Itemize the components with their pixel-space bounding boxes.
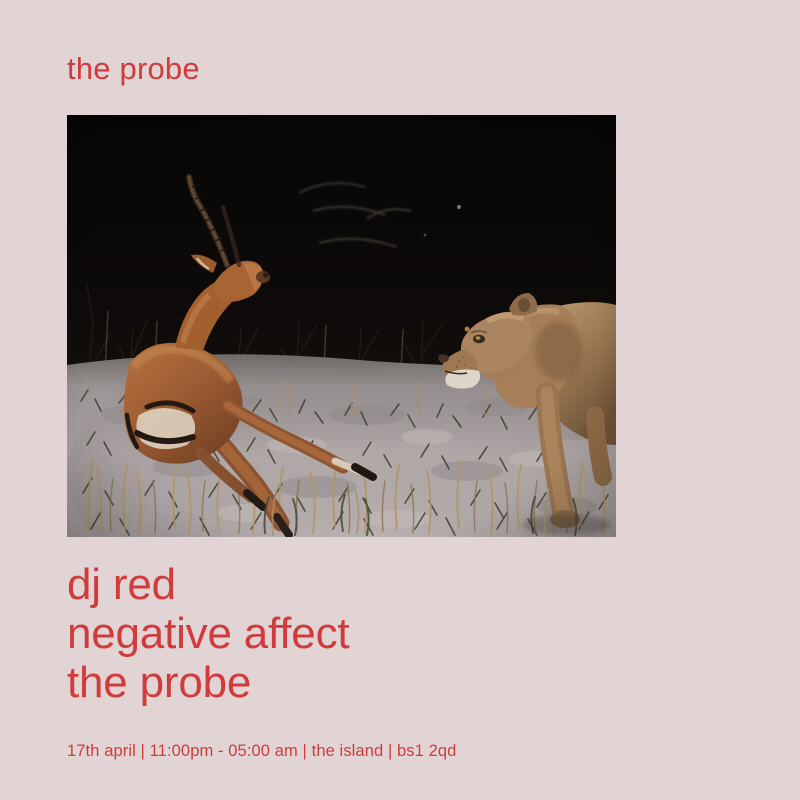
artwork-photo	[67, 115, 616, 537]
event-details: 17th april | 11:00pm - 05:00 am | the is…	[67, 742, 456, 761]
night-wildlife-photo-illustration	[67, 115, 616, 537]
lineup-item: negative affect	[67, 609, 349, 658]
poster-canvas: the probe	[0, 0, 800, 800]
lineup-list: dj red negative affect the probe	[67, 560, 349, 707]
artwork-photo-inner	[67, 115, 616, 537]
page-title: the probe	[67, 52, 200, 86]
lineup-item: the probe	[67, 658, 349, 707]
lineup-item: dj red	[67, 560, 349, 609]
